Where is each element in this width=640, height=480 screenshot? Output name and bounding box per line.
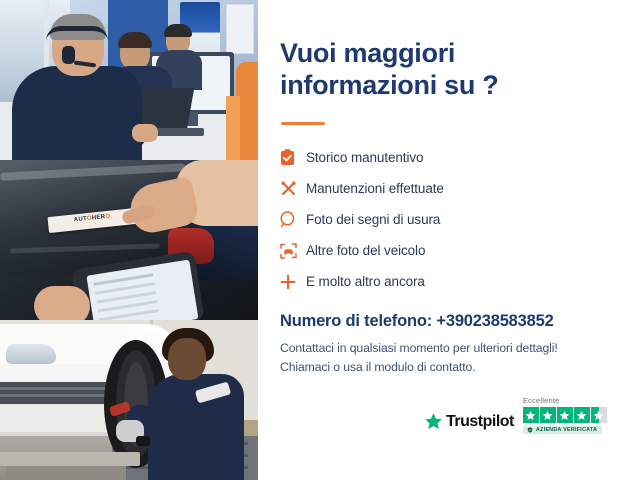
trustpilot-brand: Trustpilot [446, 413, 514, 431]
agent-1-hand-decor [132, 124, 158, 142]
star-rating [523, 407, 607, 423]
autohero-info-banner: AUTOHERO [0, 0, 640, 480]
list-item-label: Storico manutentivo [306, 150, 423, 165]
mechanic-watch-decor [136, 436, 150, 446]
photo-column: AUTOHERO [0, 0, 258, 480]
list-item: Altre foto del veicolo [280, 235, 540, 266]
headset-earcup-decor [62, 46, 75, 64]
lift-column-decor [6, 466, 126, 480]
list-item-label: Foto dei segni di usura [306, 212, 440, 227]
workshop-wheel-photo [0, 320, 258, 480]
trustpilot-rating: Eccellente [523, 396, 607, 434]
title-divider [281, 122, 325, 125]
list-item-label: Manutenzioni effettuate [306, 181, 444, 196]
orange-panel-2-decor [226, 96, 240, 160]
trustpilot-widget[interactable]: Trustpilot Eccellente [424, 396, 607, 434]
mechanic-head-decor [168, 338, 206, 380]
star-icon [424, 412, 443, 431]
star-icon [523, 407, 539, 423]
trustpilot-logo: Trustpilot [424, 412, 514, 434]
verified-label: AZIENDA VERIFICATA [536, 427, 597, 433]
vehicle-inspection-photo: AUTOHERO [0, 160, 258, 320]
headline-line-2: informazioni su ? [280, 70, 530, 102]
content-panel: Vuoi maggiori informazioni su ? Storico … [258, 0, 640, 480]
list-item: Foto dei segni di usura [280, 204, 540, 235]
clipboard-check-icon [280, 148, 306, 168]
magnifier-icon [280, 210, 306, 230]
list-item-label: E molto altro ancora [306, 274, 425, 289]
star-icon [574, 407, 590, 423]
plus-icon [280, 272, 306, 292]
list-item: Manutenzioni effettuate [280, 173, 540, 204]
tools-cross-icon [280, 179, 306, 199]
verified-badge: AZIENDA VERIFICATA [523, 426, 602, 434]
contact-text-line-2: Chiamaci o usa il modulo di contatto. [280, 360, 475, 374]
page-title: Vuoi maggiori informazioni su ? [280, 38, 530, 102]
headlight-decor [6, 344, 56, 364]
car-scan-icon [280, 241, 306, 261]
call-center-photo [0, 0, 258, 160]
star-icon [540, 407, 556, 423]
contact-text-line-1: Contattaci in qualsiasi momento per ulte… [280, 341, 558, 355]
list-item: E molto altro ancora [280, 266, 540, 297]
star-icon [557, 407, 573, 423]
lift-ramp-decor [0, 452, 140, 466]
rating-label: Eccellente [523, 396, 560, 405]
list-item-label: Altre foto del veicolo [306, 243, 425, 258]
star-half-icon [591, 407, 607, 423]
wall-notice-decor [226, 4, 254, 54]
verified-shield-icon [527, 427, 533, 433]
agent-3-hair-decor [164, 24, 192, 37]
headline-line-1: Vuoi maggiori [280, 38, 530, 70]
feature-list: Storico manutentivo Manutenzioni effettu… [280, 142, 540, 297]
phone-number[interactable]: Numero di telefono: +390238583852 [280, 312, 554, 331]
list-item: Storico manutentivo [280, 142, 540, 173]
inspector-hand-2-decor [34, 286, 90, 320]
headset-band-decor [46, 26, 108, 41]
agent-2-hair-decor [118, 32, 152, 48]
